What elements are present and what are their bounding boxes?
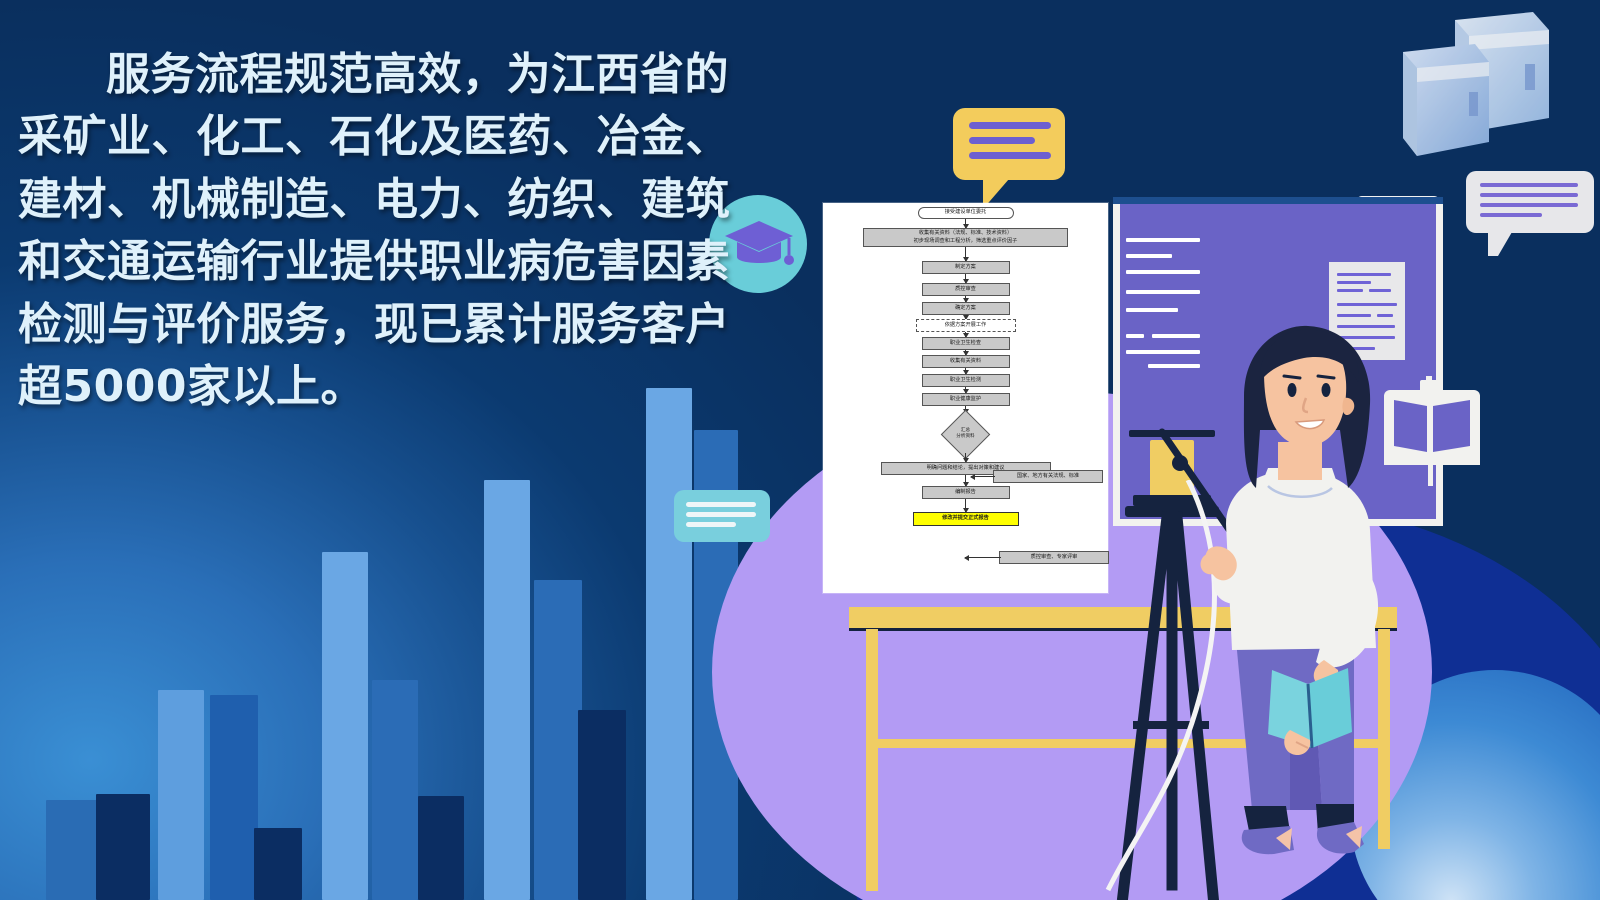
- paper-line: [1337, 289, 1363, 292]
- bar: [534, 580, 582, 900]
- flow-node-n9: 职业卫生检测: [922, 374, 1010, 387]
- bar: [484, 480, 530, 900]
- flow-node-n6: 依据方案开展工作: [916, 319, 1016, 332]
- decision-label: 汇总 分析资料: [937, 416, 995, 450]
- board-line: [1160, 290, 1200, 294]
- flow-arrow: [965, 274, 966, 283]
- flow-node-n11: 汇总 分析资料: [937, 416, 995, 450]
- flow-node-n2: 收集有关资料（法规、标准、技术资料） 初步现场调查和工程分析，筛选重点评价因子: [863, 228, 1068, 247]
- paper-line: [1337, 303, 1397, 306]
- bar: [254, 828, 302, 900]
- flow-arrow: [965, 475, 966, 486]
- bar: [646, 388, 692, 900]
- bar: [322, 552, 368, 900]
- speech-bubble-icon: [674, 490, 770, 542]
- bubble-line: [1480, 213, 1542, 217]
- board-line: [1126, 270, 1200, 274]
- paper-line: [1337, 281, 1371, 284]
- desk-leg: [866, 629, 878, 891]
- bubble-line: [1480, 183, 1578, 187]
- page-title: 服务流程规范高效，为江西省的采矿业、化工、石化及医药、冶金、建材、机械制造、电力…: [18, 44, 770, 419]
- flow-node-n4: 质控审查: [922, 283, 1010, 296]
- flow-node-n13: 编制报告: [922, 486, 1010, 499]
- bar: [372, 680, 418, 900]
- speech-bubble-icon: [953, 108, 1065, 180]
- flow-node-n5: 确定方案: [922, 302, 1010, 315]
- bar: [158, 690, 204, 900]
- bubble-line: [969, 122, 1051, 129]
- bubble-line: [686, 502, 756, 507]
- flow-node-n14: 修改并提交正式报告: [913, 512, 1019, 526]
- board-line: [1126, 238, 1200, 242]
- paper-line: [1369, 289, 1391, 292]
- speech-bubble-icon: [1466, 171, 1594, 233]
- bubble-tail: [1488, 232, 1512, 256]
- bar: [418, 796, 464, 900]
- paper-line: [1337, 273, 1391, 276]
- presenter-figure: [1140, 310, 1460, 870]
- flowchart-whiteboard: 接受建设单位委托 收集有关资料（法规、标准、技术资料） 初步现场调查和工程分析，…: [823, 203, 1108, 593]
- flow-arrow-horizontal: [965, 557, 1001, 558]
- flowchart: 接受建设单位委托 收集有关资料（法规、标准、技术资料） 初步现场调查和工程分析，…: [823, 203, 1108, 593]
- flow-side-input-s1: 国家、地方有关法规、标准: [993, 470, 1103, 483]
- flow-node-n1: 接受建设单位委托: [918, 207, 1014, 219]
- bubble-line: [1480, 203, 1578, 207]
- poster-canvas: 接受建设单位委托 收集有关资料（法规、标准、技术资料） 初步现场调查和工程分析，…: [0, 0, 1600, 900]
- bar: [210, 695, 258, 900]
- flow-side-input-s2: 质控审查、专家评审: [999, 551, 1109, 564]
- bubble-line: [969, 137, 1035, 144]
- bar: [46, 800, 102, 900]
- bubble-line: [969, 152, 1051, 159]
- flow-node-n8: 收集有关资料: [922, 355, 1010, 368]
- bubble-line: [686, 512, 756, 517]
- bubble-line: [686, 522, 736, 527]
- board-line: [1126, 254, 1172, 258]
- flow-arrow: [965, 219, 966, 228]
- flow-node-n10: 职业健康监护: [922, 393, 1010, 406]
- flow-arrow: [965, 453, 966, 462]
- flow-node-n3: 制定方案: [922, 261, 1010, 274]
- bar: [578, 710, 626, 900]
- bubble-line: [1480, 193, 1578, 197]
- flow-arrow: [965, 499, 966, 512]
- flow-arrow-horizontal: [971, 476, 995, 477]
- books-icon: [1383, 6, 1583, 186]
- bar: [96, 794, 150, 900]
- flow-arrow: [965, 247, 966, 261]
- flow-node-n7: 职业卫生检查: [922, 337, 1010, 350]
